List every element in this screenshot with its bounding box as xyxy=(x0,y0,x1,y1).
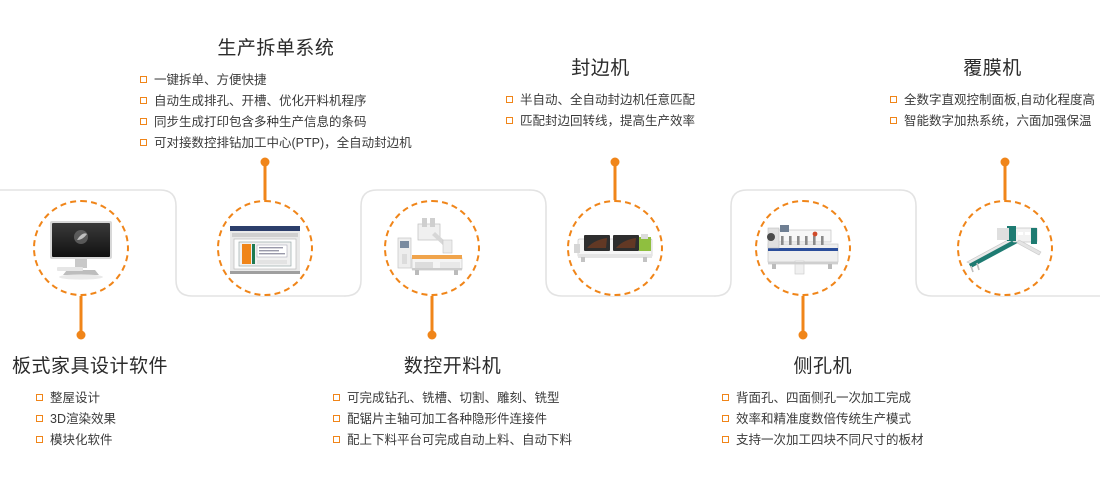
list-item: 匹配封边回转线，提高生产效率 xyxy=(506,111,695,132)
list-item-label: 配锯片主轴可加工各种隐形件连接件 xyxy=(347,409,547,430)
list-item-label: 背面孔、四面侧孔一次加工完成 xyxy=(736,388,911,409)
list-item-label: 整屋设计 xyxy=(50,388,100,409)
node-design-software[interactable] xyxy=(33,200,129,296)
list-item-label: 一键拆单、方便快捷 xyxy=(154,70,267,91)
block-title: 板式家具设计软件 xyxy=(12,356,168,379)
stem-dot-down-1 xyxy=(77,331,86,340)
list-item-label: 可对接数控排钻加工中心(PTP)，全自动封边机 xyxy=(154,133,412,154)
stem-dot-up-2 xyxy=(611,158,620,167)
bullet-square-icon xyxy=(506,96,513,103)
list-item: 配锯片主轴可加工各种隐形件连接件 xyxy=(333,409,572,430)
list-item-label: 同步生成打印包含多种生产信息的条码 xyxy=(154,112,367,133)
list-item-label: 效率和精准度数倍传统生产模式 xyxy=(736,409,911,430)
cnc-router-icon xyxy=(388,204,476,292)
block-cnc-cutting-machine: 数控开料机 可完成钻孔、铣槽、切割、雕刻、铣型 配锯片主轴可加工各种隐形件连接件… xyxy=(333,356,572,451)
imac-computer-icon xyxy=(37,204,125,292)
list-item: 一键拆单、方便快捷 xyxy=(140,70,412,91)
list-item: 背面孔、四面侧孔一次加工完成 xyxy=(722,388,924,409)
block-edge-banding-machine: 封边机 半自动、全自动封边机任意匹配 匹配封边回转线，提高生产效率 xyxy=(506,58,695,132)
node-laminating[interactable] xyxy=(957,200,1053,296)
feature-list: 一键拆单、方便快捷 自动生成排孔、开槽、优化开料机程序 同步生成打印包含多种生产… xyxy=(140,70,412,154)
list-item: 配上下料平台可完成自动上料、自动下料 xyxy=(333,430,572,451)
bullet-square-icon xyxy=(333,436,340,443)
node-side-hole[interactable] xyxy=(755,200,851,296)
node-edge-banding[interactable] xyxy=(567,200,663,296)
block-title: 生产拆单系统 xyxy=(140,38,412,61)
stem-dot-down-3 xyxy=(799,331,808,340)
block-title: 封边机 xyxy=(506,58,695,81)
feature-list: 半自动、全自动封边机任意匹配 匹配封边回转线，提高生产效率 xyxy=(506,90,695,132)
bullet-square-icon xyxy=(722,436,729,443)
bullet-square-icon xyxy=(333,415,340,422)
feature-list: 全数字直观控制面板,自动化程度高 智能数字加热系统，六面加强保温 xyxy=(890,90,1095,132)
block-title: 覆膜机 xyxy=(890,58,1095,81)
list-item-label: 智能数字加热系统，六面加强保温 xyxy=(904,111,1092,132)
block-side-hole-machine: 侧孔机 背面孔、四面侧孔一次加工完成 效率和精准度数倍传统生产模式 支持一次加工… xyxy=(722,356,924,451)
bullet-square-icon xyxy=(36,415,43,422)
list-item: 自动生成排孔、开槽、优化开料机程序 xyxy=(140,91,412,112)
bullet-square-icon xyxy=(140,97,147,104)
list-item: 支持一次加工四块不同尺寸的板材 xyxy=(722,430,924,451)
bullet-square-icon xyxy=(722,394,729,401)
stem-dot-down-2 xyxy=(428,331,437,340)
list-item: 可对接数控排钻加工中心(PTP)，全自动封边机 xyxy=(140,133,412,154)
bullet-square-icon xyxy=(140,118,147,125)
laptop-software-icon xyxy=(221,204,309,292)
edge-bander-icon xyxy=(571,204,659,292)
list-item-label: 自动生成排孔、开槽、优化开料机程序 xyxy=(154,91,367,112)
list-item-label: 匹配封边回转线，提高生产效率 xyxy=(520,111,695,132)
list-item-label: 支持一次加工四块不同尺寸的板材 xyxy=(736,430,924,451)
list-item: 3D渲染效果 xyxy=(36,409,168,430)
bullet-square-icon xyxy=(333,394,340,401)
bullet-square-icon xyxy=(36,394,43,401)
block-title: 数控开料机 xyxy=(333,356,572,379)
list-item: 全数字直观控制面板,自动化程度高 xyxy=(890,90,1095,111)
bullet-square-icon xyxy=(506,117,513,124)
list-item: 可完成钻孔、铣槽、切割、雕刻、铣型 xyxy=(333,388,572,409)
laminating-machine-icon xyxy=(961,204,1049,292)
block-panel-furniture-design-software: 板式家具设计软件 整屋设计 3D渲染效果 模块化软件 xyxy=(12,356,168,451)
list-item: 模块化软件 xyxy=(36,430,168,451)
feature-list: 整屋设计 3D渲染效果 模块化软件 xyxy=(36,388,168,451)
list-item-label: 模块化软件 xyxy=(50,430,113,451)
stem-dot-up-3 xyxy=(1001,158,1010,167)
list-item-label: 3D渲染效果 xyxy=(50,409,116,430)
block-laminating-machine: 覆膜机 全数字直观控制面板,自动化程度高 智能数字加热系统，六面加强保温 xyxy=(890,58,1095,132)
bullet-square-icon xyxy=(140,76,147,83)
list-item: 同步生成打印包含多种生产信息的条码 xyxy=(140,112,412,133)
list-item-label: 配上下料平台可完成自动上料、自动下料 xyxy=(347,430,572,451)
stem-dot-up-1 xyxy=(261,158,270,167)
bullet-square-icon xyxy=(140,139,147,146)
node-cnc-cutting[interactable] xyxy=(384,200,480,296)
block-title: 侧孔机 xyxy=(722,356,924,379)
list-item: 半自动、全自动封边机任意匹配 xyxy=(506,90,695,111)
bullet-square-icon xyxy=(36,436,43,443)
bullet-square-icon xyxy=(890,96,897,103)
list-item: 整屋设计 xyxy=(36,388,168,409)
block-production-splitting-system: 生产拆单系统 一键拆单、方便快捷 自动生成排孔、开槽、优化开料机程序 同步生成打… xyxy=(140,38,412,154)
feature-list: 背面孔、四面侧孔一次加工完成 效率和精准度数倍传统生产模式 支持一次加工四块不同… xyxy=(722,388,924,451)
list-item: 效率和精准度数倍传统生产模式 xyxy=(722,409,924,430)
list-item-label: 可完成钻孔、铣槽、切割、雕刻、铣型 xyxy=(347,388,560,409)
infographic-canvas: 生产拆单系统 一键拆单、方便快捷 自动生成排孔、开槽、优化开料机程序 同步生成打… xyxy=(0,0,1100,495)
bullet-square-icon xyxy=(722,415,729,422)
side-drill-icon xyxy=(759,204,847,292)
node-splitting-system[interactable] xyxy=(217,200,313,296)
list-item: 智能数字加热系统，六面加强保温 xyxy=(890,111,1095,132)
list-item-label: 全数字直观控制面板,自动化程度高 xyxy=(904,90,1095,111)
bullet-square-icon xyxy=(890,117,897,124)
list-item-label: 半自动、全自动封边机任意匹配 xyxy=(520,90,695,111)
feature-list: 可完成钻孔、铣槽、切割、雕刻、铣型 配锯片主轴可加工各种隐形件连接件 配上下料平… xyxy=(333,388,572,451)
